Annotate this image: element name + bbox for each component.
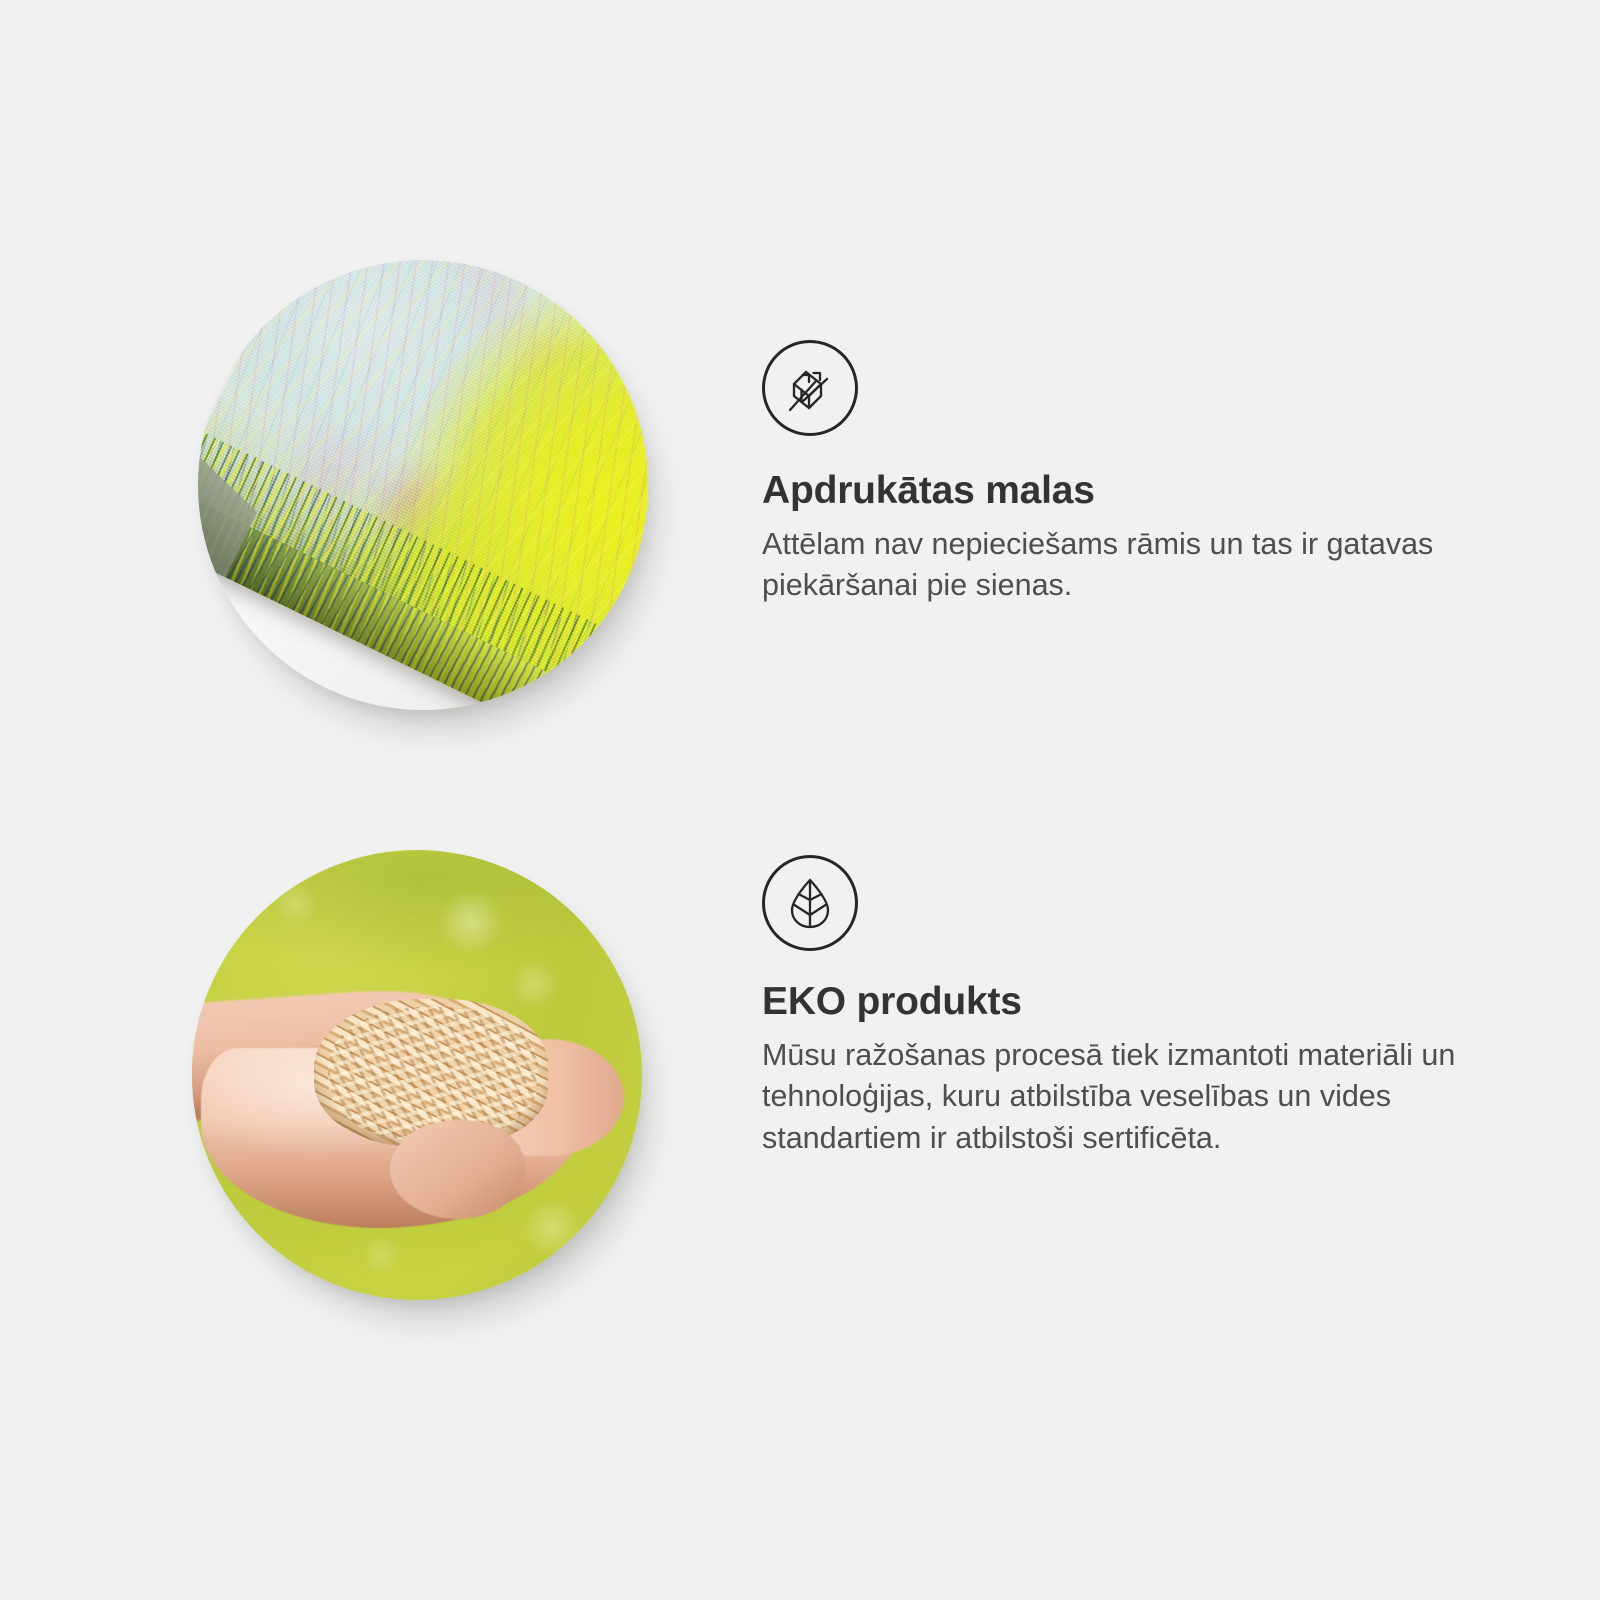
feature-title: EKO produkts	[762, 951, 1492, 1024]
feature-eco-product: EKO produkts Mūsu ražošanas procesā tiek…	[0, 820, 1600, 1340]
canvas-corner-photo-wrapper	[198, 260, 648, 710]
eco-product-content: EKO produkts Mūsu ražošanas procesā tiek…	[762, 855, 1492, 1159]
feature-printed-edges: Apdrukātas malas Attēlam nav nepieciešam…	[0, 230, 1600, 750]
leaf-icon	[762, 855, 858, 951]
feature-highlights-page: Apdrukātas malas Attēlam nav nepieciešam…	[0, 0, 1600, 1600]
hands-with-wood-chips-photo	[192, 850, 642, 1300]
thumb	[390, 1120, 525, 1219]
folded-canvas-edge-glyph	[780, 358, 840, 418]
leaf-glyph	[781, 874, 839, 932]
feature-description: Attēlam nav nepieciešams rāmis un tas ir…	[762, 513, 1462, 607]
feature-title: Apdrukātas malas	[762, 436, 1492, 513]
feature-description: Mūsu ražošanas procesā tiek izmantoti ma…	[762, 1024, 1474, 1159]
printed-edges-content: Apdrukātas malas Attēlam nav nepieciešam…	[762, 340, 1492, 607]
wood-chips-photo-wrapper	[192, 850, 642, 1300]
folded-canvas-edge-icon	[762, 340, 858, 436]
canvas-corner-photo	[198, 260, 648, 710]
